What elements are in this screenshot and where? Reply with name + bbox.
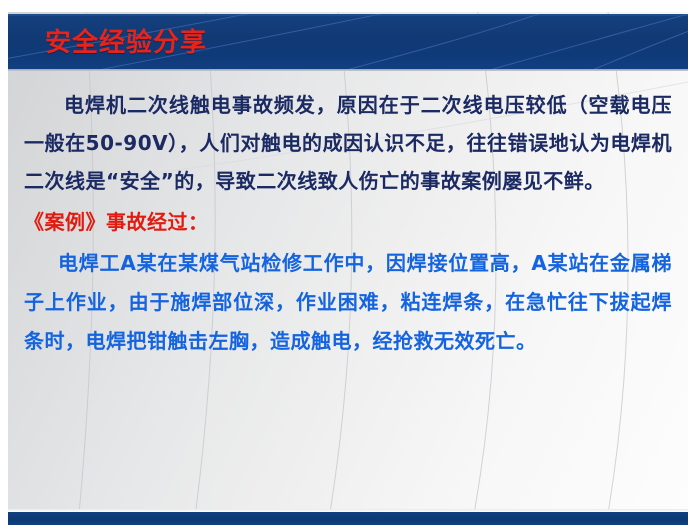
paragraph-overview: 电焊机二次线触电事故频发，原因在于二次线电压较低（空载电压一般在50-90V），… [24, 86, 672, 200]
slide-footer-band [8, 512, 688, 525]
slide-canvas: 安全经验分享 电焊机二次线触电事故频发，原因在于二次线电压较低（空载电压一般在5… [0, 0, 688, 527]
paragraph-case-detail: 电焊工A某在某煤气站检修工作中，因焊接位置高，A某站在金属梯子上作业，由于施焊部… [24, 244, 672, 361]
paragraph-case-detail-text: 电焊工A某在某煤气站检修工作中，因焊接位置高，A某站在金属梯子上作业，由于施焊部… [24, 251, 672, 353]
paragraph-overview-text: 电焊机二次线触电事故频发，原因在于二次线电压较低（空载电压一般在50-90V），… [24, 93, 672, 193]
slide-body-content: 电焊机二次线触电事故频发，原因在于二次线电压较低（空载电压一般在50-90V），… [24, 86, 672, 361]
page-title: 安全经验分享 [45, 26, 207, 60]
header-underline [8, 69, 688, 71]
section-heading-case: 《案例》事故经过： [24, 202, 672, 242]
